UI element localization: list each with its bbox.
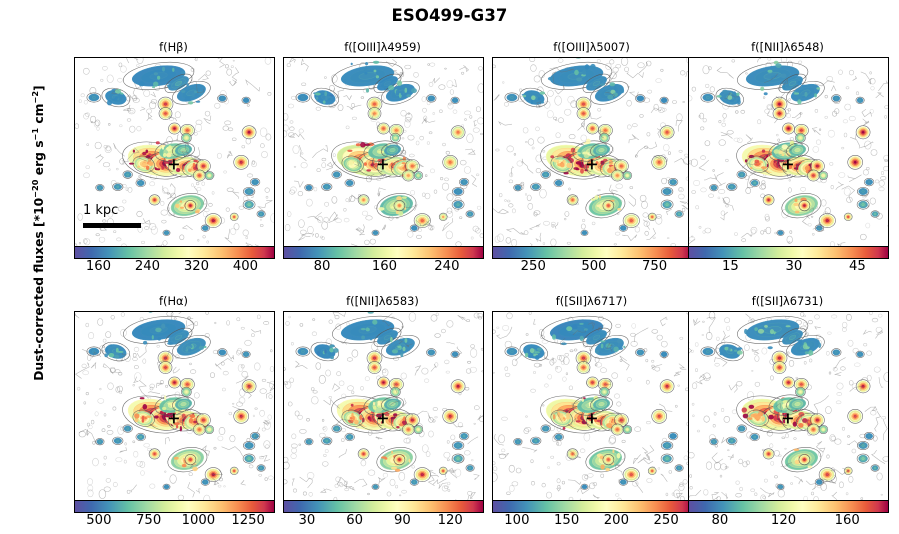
- flux-clump: [459, 178, 469, 186]
- panel-axes: [688, 57, 889, 247]
- panel-2: f([OIII]λ5007): [492, 57, 691, 245]
- flux-clump: [242, 97, 250, 104]
- flux-clump: [309, 339, 341, 364]
- flux-map: [284, 312, 483, 500]
- flux-clump: [795, 133, 805, 142]
- flux-clump: [218, 95, 228, 103]
- flux-clump: [451, 126, 465, 139]
- panel-title: f([NII]λ6583): [283, 294, 482, 308]
- flux-clump: [250, 432, 260, 440]
- flux-clump: [169, 377, 181, 388]
- flux-clump: [136, 433, 146, 441]
- flux-clump: [332, 171, 342, 179]
- flux-clump: [710, 438, 718, 445]
- flux-clump: [234, 409, 249, 423]
- flux-clump: [205, 214, 221, 228]
- flux-clump: [871, 211, 879, 218]
- flux-clump: [123, 171, 133, 179]
- figure-suptitle: ESO499-G37: [0, 6, 899, 25]
- flux-clump: [242, 351, 250, 358]
- panel-4: f(Hα): [74, 311, 273, 499]
- colorbar-ticks-6: 100150200250: [492, 513, 691, 529]
- flux-clump: [661, 454, 673, 463]
- colorbar-tick-label: 150: [554, 513, 579, 528]
- colorbar-tick-label: 500: [581, 259, 606, 274]
- flux-clump: [243, 454, 255, 463]
- flux-clump: [201, 225, 209, 232]
- flux-clump: [714, 339, 746, 364]
- flux-clump: [372, 484, 379, 490]
- flux-clump: [832, 349, 842, 357]
- flux-clump: [701, 93, 715, 102]
- flux-clump: [619, 479, 627, 486]
- flux-clump: [652, 155, 667, 169]
- flux-clump: [660, 97, 668, 104]
- colorbar-7[interactable]: [688, 500, 889, 513]
- panel-axes: [492, 311, 693, 501]
- flux-clump: [181, 387, 191, 396]
- flux-clump: [459, 432, 469, 440]
- flux-clump: [414, 468, 430, 482]
- colorbar-4[interactable]: [74, 500, 275, 513]
- flux-map: [689, 58, 888, 246]
- flux-clump: [660, 380, 674, 393]
- flux-clump: [727, 183, 737, 191]
- colorbar-ticks-5: 306090120: [283, 513, 482, 529]
- scalebar-label: 1 kpc: [83, 203, 118, 218]
- colorbar-tick-label: 30: [785, 259, 802, 274]
- flux-clump: [296, 347, 310, 356]
- colorbar-tick-label: 45: [849, 259, 866, 274]
- flux-clump: [514, 184, 522, 191]
- flux-clump: [443, 409, 458, 423]
- colorbar-ticks-7: 80120160: [688, 513, 887, 529]
- flux-clump: [857, 441, 869, 449]
- colorbar-tick-label: 160: [86, 259, 111, 274]
- flux-clump: [305, 184, 313, 191]
- flux-clump: [410, 479, 418, 486]
- flux-clump: [505, 93, 519, 102]
- colorbar-tick-label: 80: [314, 259, 331, 274]
- flux-clump: [257, 211, 265, 218]
- ylabel-exponent-1: −20: [30, 180, 40, 198]
- panel-axes: [688, 311, 889, 501]
- colorbar-ticks-3: 153045: [688, 259, 887, 275]
- flux-clump: [242, 380, 256, 393]
- flux-clump: [701, 347, 715, 356]
- flux-clump: [611, 170, 623, 181]
- flux-clump: [799, 454, 810, 464]
- flux-clump: [410, 225, 418, 232]
- flux-clump: [159, 361, 172, 373]
- flux-map: [493, 58, 692, 246]
- flux-clump: [763, 195, 774, 205]
- colorbar-tick-label: 240: [434, 259, 459, 274]
- colorbar-ticks-2: 250500750: [492, 259, 691, 275]
- flux-clump: [531, 183, 541, 191]
- flux-clump: [783, 123, 795, 134]
- flux-clump: [100, 85, 132, 110]
- panel-title: f([NII]λ6548): [688, 40, 887, 54]
- flux-clump: [661, 200, 673, 209]
- flux-clump: [819, 214, 835, 228]
- flux-clump: [777, 230, 784, 236]
- flux-clump: [243, 200, 255, 209]
- flux-clump: [345, 179, 355, 187]
- flux-clump: [159, 107, 172, 119]
- flux-clump: [394, 200, 405, 210]
- flux-clump: [661, 441, 673, 449]
- colorbar-tick-label: 100: [504, 513, 529, 528]
- flux-clump: [623, 171, 632, 179]
- flux-clump: [205, 171, 214, 179]
- flux-clump: [518, 85, 550, 110]
- flux-clump: [305, 438, 313, 445]
- colorbar-tick-label: 160: [372, 259, 397, 274]
- colorbar-ticks-4: 50075010001250: [74, 513, 273, 529]
- flux-clump: [856, 97, 864, 104]
- flux-clump: [661, 187, 673, 195]
- flux-clump: [96, 184, 104, 191]
- flux-map: [493, 312, 692, 500]
- flux-clump: [857, 200, 869, 209]
- flux-clump: [710, 184, 718, 191]
- panel-6: f([SII]λ6717): [492, 311, 691, 499]
- flux-clump: [554, 433, 564, 441]
- flux-clump: [652, 409, 667, 423]
- colorbar-tick-label: 120: [771, 513, 796, 528]
- flux-clump: [378, 377, 390, 388]
- colorbar-0[interactable]: [74, 246, 275, 259]
- flux-clump: [727, 437, 737, 445]
- flux-clump: [807, 424, 819, 435]
- flux-map: [284, 58, 483, 246]
- colorbar-tick-label: 30: [298, 513, 315, 528]
- colorbar-tick-label: 750: [642, 259, 667, 274]
- panel-title: f(Hα): [74, 294, 273, 308]
- flux-clump: [230, 213, 238, 221]
- flux-clump: [577, 361, 590, 373]
- flux-clump: [832, 95, 842, 103]
- flux-clump: [201, 479, 209, 486]
- flux-clump: [402, 170, 414, 181]
- flux-clump: [257, 465, 265, 472]
- colorbar-1[interactable]: [283, 246, 484, 259]
- flux-clump: [541, 425, 551, 433]
- flux-clump: [234, 155, 249, 169]
- panel-3: f([NII]λ6548): [688, 57, 887, 245]
- flux-clump: [439, 467, 447, 475]
- flux-clump: [714, 85, 746, 110]
- flux-clump: [193, 170, 205, 181]
- flux-clump: [871, 465, 879, 472]
- colorbar-tick-label: 400: [233, 259, 258, 274]
- flux-clump: [848, 155, 863, 169]
- flux-clump: [113, 437, 123, 445]
- flux-clump: [623, 214, 639, 228]
- colorbar-tick-label: 250: [521, 259, 546, 274]
- flux-clump: [554, 179, 564, 187]
- flux-clump: [452, 200, 464, 209]
- flux-clump: [603, 454, 614, 464]
- flux-clump: [230, 467, 238, 475]
- flux-clump: [599, 387, 609, 396]
- ylabel-part-1: Dust-corrected fluxes [*10: [32, 198, 46, 381]
- flux-clump: [737, 171, 747, 179]
- colorbar-ticks-1: 80160240: [283, 259, 482, 275]
- flux-clump: [799, 200, 810, 210]
- panel-0: f(Hβ)1 kpc: [74, 57, 273, 245]
- flux-clump: [623, 468, 639, 482]
- panel-axes: [492, 57, 693, 247]
- panel-axes: 1 kpc: [74, 57, 275, 247]
- panel-title: f(Hβ): [74, 40, 273, 54]
- flux-clump: [372, 230, 379, 236]
- colorbar-tick-label: 80: [711, 513, 728, 528]
- flux-clump: [451, 351, 459, 358]
- flux-clump: [819, 468, 835, 482]
- flux-clump: [96, 438, 104, 445]
- flux-clump: [531, 437, 541, 445]
- flux-clump: [322, 437, 332, 445]
- flux-map: [75, 312, 274, 500]
- ylabel-part-2: erg s: [32, 140, 46, 179]
- flux-clump: [452, 441, 464, 449]
- flux-clump: [856, 126, 870, 139]
- flux-clump: [243, 441, 255, 449]
- ylabel-exponent-2: −1: [30, 128, 40, 141]
- flux-clump: [567, 449, 578, 459]
- ylabel-exponent-3: −2: [30, 91, 40, 104]
- panel-title: f([SII]λ6717): [492, 294, 691, 308]
- flux-clump: [660, 351, 668, 358]
- flux-clump: [783, 377, 795, 388]
- flux-clump: [378, 123, 390, 134]
- flux-clump: [452, 454, 464, 463]
- flux-clump: [750, 179, 760, 187]
- flux-clump: [466, 211, 474, 218]
- flux-clump: [623, 425, 632, 433]
- colorbar-tick-label: 240: [135, 259, 160, 274]
- flux-clump: [603, 200, 614, 210]
- colorbar-tick-label: 500: [86, 513, 111, 528]
- flux-clump: [668, 178, 678, 186]
- flux-clump: [402, 424, 414, 435]
- flux-clump: [185, 454, 196, 464]
- flux-clump: [750, 433, 760, 441]
- panel-title: f([SII]λ6731): [688, 294, 887, 308]
- flux-clump: [193, 424, 205, 435]
- flux-clump: [619, 225, 627, 232]
- flux-map: [689, 312, 888, 500]
- flux-clump: [332, 425, 342, 433]
- flux-clump: [636, 349, 646, 357]
- figure-canvas: ESO499-G37 Dust-corrected fluxes [*10−20…: [0, 0, 899, 534]
- flux-clump: [587, 377, 599, 388]
- flux-clump: [795, 387, 805, 396]
- scalebar-line: [83, 223, 141, 228]
- flux-clump: [452, 187, 464, 195]
- flux-clump: [123, 425, 133, 433]
- ylabel-part-4: ]: [32, 85, 46, 91]
- flux-clump: [427, 95, 437, 103]
- colorbar-tick-label: 750: [136, 513, 161, 528]
- flux-clump: [660, 126, 674, 139]
- flux-clump: [844, 213, 852, 221]
- flux-clump: [577, 107, 590, 119]
- ylabel-part-3: cm: [32, 104, 46, 128]
- colorbar-6[interactable]: [492, 500, 693, 513]
- flux-clump: [763, 449, 774, 459]
- colorbar-tick-label: 60: [346, 513, 363, 528]
- colorbar-tick-label: 90: [394, 513, 411, 528]
- panel-axes: [283, 311, 484, 501]
- flux-clump: [439, 213, 447, 221]
- flux-clump: [451, 97, 459, 104]
- flux-clump: [345, 433, 355, 441]
- colorbar-ticks-0: 160240320400: [74, 259, 273, 275]
- flux-clump: [414, 425, 423, 433]
- colorbar-tick-label: 120: [438, 513, 463, 528]
- flux-clump: [611, 424, 623, 435]
- flux-clump: [857, 454, 869, 463]
- flux-clump: [581, 484, 588, 490]
- flux-clump: [819, 171, 828, 179]
- flux-clump: [856, 351, 864, 358]
- flux-clump: [848, 409, 863, 423]
- flux-clump: [505, 347, 519, 356]
- flux-clump: [675, 211, 683, 218]
- flux-clump: [394, 454, 405, 464]
- panel-1: f([OIII]λ4959): [283, 57, 482, 245]
- colorbar-2[interactable]: [492, 246, 693, 259]
- flux-clump: [581, 230, 588, 236]
- flux-clump: [149, 195, 160, 205]
- flux-clump: [390, 133, 400, 142]
- flux-clump: [358, 449, 369, 459]
- colorbar-tick-label: 320: [184, 259, 209, 274]
- flux-clump: [675, 465, 683, 472]
- flux-clump: [466, 465, 474, 472]
- flux-clump: [648, 213, 656, 221]
- flux-clump: [242, 126, 256, 139]
- flux-clump: [777, 484, 784, 490]
- flux-clump: [181, 133, 191, 142]
- flux-clump: [250, 178, 260, 186]
- flux-clump: [414, 171, 423, 179]
- flux-clump: [322, 183, 332, 191]
- panel-title: f([OIII]λ4959): [283, 40, 482, 54]
- flux-clump: [819, 425, 828, 433]
- flux-clump: [857, 187, 869, 195]
- flux-clump: [587, 123, 599, 134]
- flux-clump: [773, 361, 786, 373]
- flux-clump: [163, 230, 170, 236]
- flux-clump: [541, 171, 551, 179]
- flux-clump: [864, 432, 874, 440]
- panel-axes: [74, 311, 275, 501]
- colorbar-tick-label: 1000: [182, 513, 216, 528]
- flux-clump: [514, 438, 522, 445]
- panel-7: f([SII]λ6731): [688, 311, 887, 499]
- flux-clump: [185, 200, 196, 210]
- flux-clump: [864, 178, 874, 186]
- colorbar-tick-label: 15: [722, 259, 739, 274]
- flux-clump: [218, 349, 228, 357]
- flux-clump: [296, 93, 310, 102]
- flux-clump: [169, 123, 181, 134]
- colorbar-3[interactable]: [688, 246, 889, 259]
- flux-clump: [807, 170, 819, 181]
- colorbar-tick-label: 200: [604, 513, 629, 528]
- colorbar-tick-label: 1250: [231, 513, 265, 528]
- flux-clump: [149, 449, 160, 459]
- flux-clump: [163, 484, 170, 490]
- y-axis-label: Dust-corrected fluxes [*10−20 erg s−1 cm…: [30, 83, 46, 383]
- flux-clump: [451, 380, 465, 393]
- colorbar-5[interactable]: [283, 500, 484, 513]
- flux-clump: [87, 93, 101, 102]
- flux-clump: [856, 380, 870, 393]
- panel-5: f([NII]λ6583): [283, 311, 482, 499]
- flux-clump: [136, 179, 146, 187]
- colorbar-tick-label: 160: [835, 513, 860, 528]
- flux-clump: [737, 425, 747, 433]
- flux-clump: [427, 349, 437, 357]
- flux-clump: [443, 155, 458, 169]
- flux-clump: [113, 183, 123, 191]
- flux-clump: [668, 432, 678, 440]
- panel-axes: [283, 57, 484, 247]
- panel-title: f([OIII]λ5007): [492, 40, 691, 54]
- colorbar-tick-label: 250: [654, 513, 679, 528]
- flux-clump: [205, 425, 214, 433]
- flux-clump: [368, 361, 381, 373]
- flux-clump: [648, 467, 656, 475]
